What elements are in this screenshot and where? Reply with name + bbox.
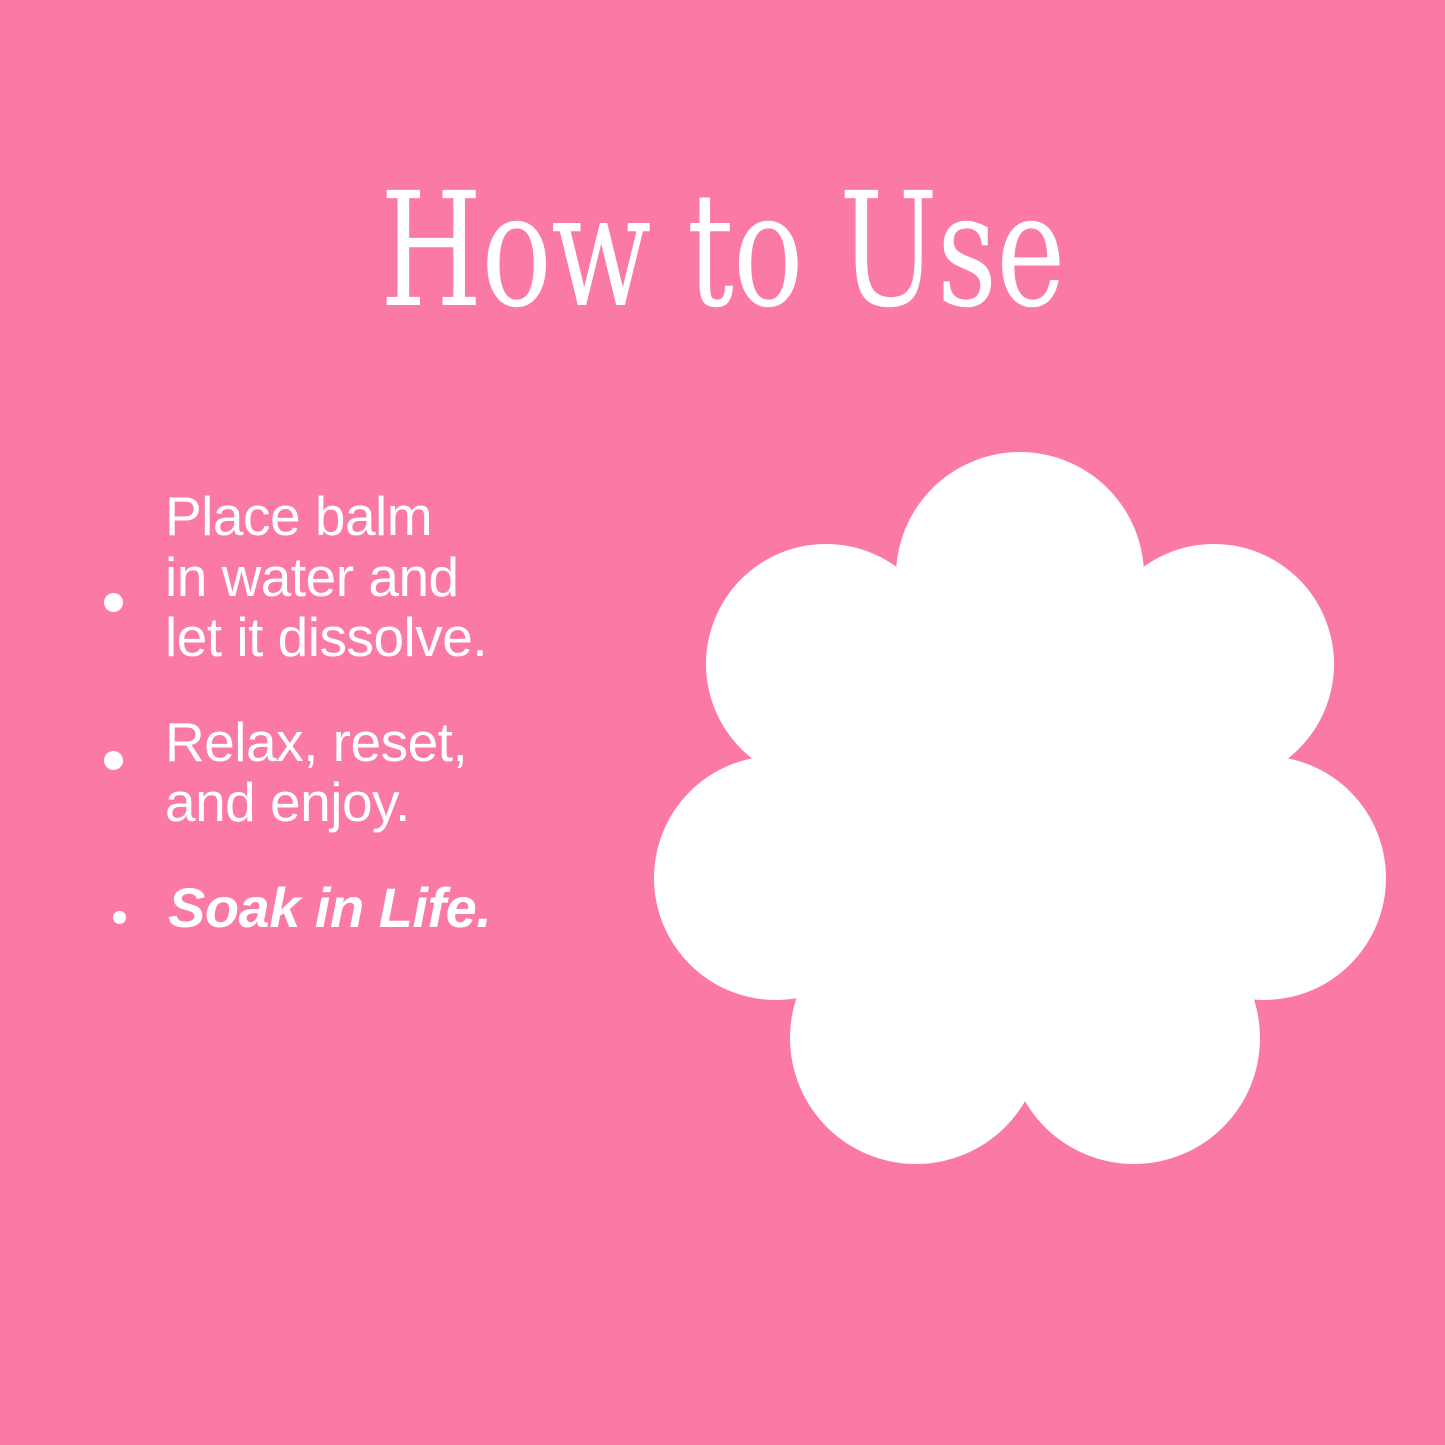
- step-3-text: Soak in Life.: [168, 877, 656, 939]
- flower-white-frame: [654, 452, 1386, 1164]
- bullet-point-icon: [113, 911, 126, 924]
- flower-framed-product-photo: [648, 448, 1392, 1174]
- flower-photo-svg: [648, 448, 1392, 1174]
- step-2-text: Relax, reset, and enjoy.: [165, 712, 656, 833]
- list-item-step-2: Relax, reset, and enjoy.: [96, 712, 656, 833]
- bullet-point-icon: [104, 751, 123, 770]
- step-1-text: Place balm in water and let it dissolve.: [165, 486, 656, 668]
- how-to-use-step-list: Place balm in water and let it dissolve.…: [96, 486, 656, 938]
- how-to-use-card: How to Use Place balm in water and let i…: [0, 0, 1445, 1445]
- bullet-point-icon: [104, 593, 123, 612]
- list-item-step-3: Soak in Life.: [96, 877, 656, 939]
- page-title: How to Use: [188, 172, 1257, 330]
- list-item-step-1: Place balm in water and let it dissolve.: [96, 486, 656, 668]
